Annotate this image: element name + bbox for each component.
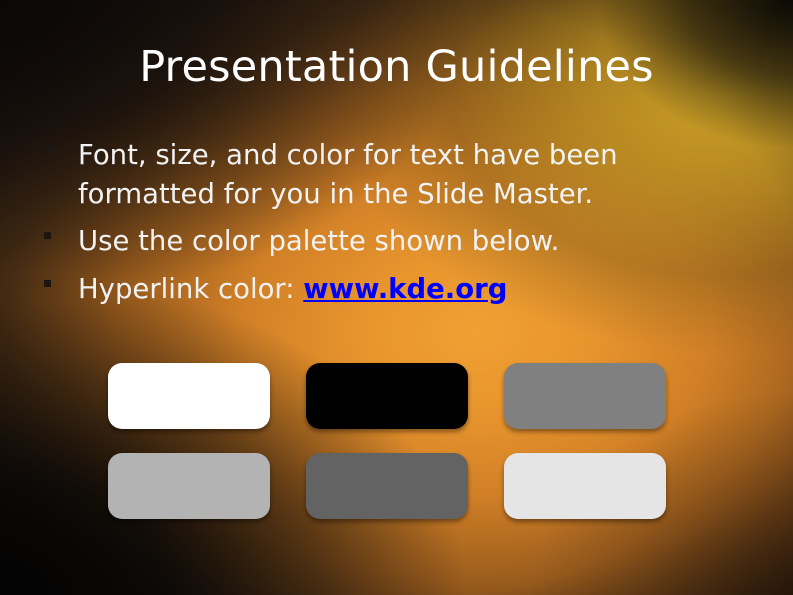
swatch-light-gray[interactable] (108, 453, 270, 519)
swatch-black[interactable] (306, 363, 468, 429)
list-item: Hyperlink color: www.kde.org (44, 270, 754, 309)
bullet-text-2: Use the color palette shown below. (78, 222, 718, 261)
swatch-gray[interactable] (504, 363, 666, 429)
kde-hyperlink[interactable]: www.kde.org (303, 273, 507, 305)
bullet-text-3: Hyperlink color: www.kde.org (78, 270, 718, 309)
bullet-text-1: Font, size, and color for text have been… (78, 136, 718, 213)
swatch-dark-gray[interactable] (306, 453, 468, 519)
square-bullet-icon (44, 146, 51, 153)
swatch-white[interactable] (108, 363, 270, 429)
bullet-list: Font, size, and color for text have been… (44, 136, 754, 317)
color-palette (108, 363, 668, 543)
square-bullet-icon (44, 280, 51, 287)
list-item: Font, size, and color for text have been… (44, 136, 754, 213)
square-bullet-icon (44, 232, 51, 239)
swatch-off-white[interactable] (504, 453, 666, 519)
presentation-slide: Presentation Guidelines Font, size, and … (0, 0, 793, 595)
hyperlink-label: Hyperlink color: (78, 273, 303, 305)
page-title: Presentation Guidelines (0, 44, 793, 90)
palette-row-top (108, 363, 668, 429)
list-item: Use the color palette shown below. (44, 222, 754, 261)
palette-row-bottom (108, 453, 668, 519)
